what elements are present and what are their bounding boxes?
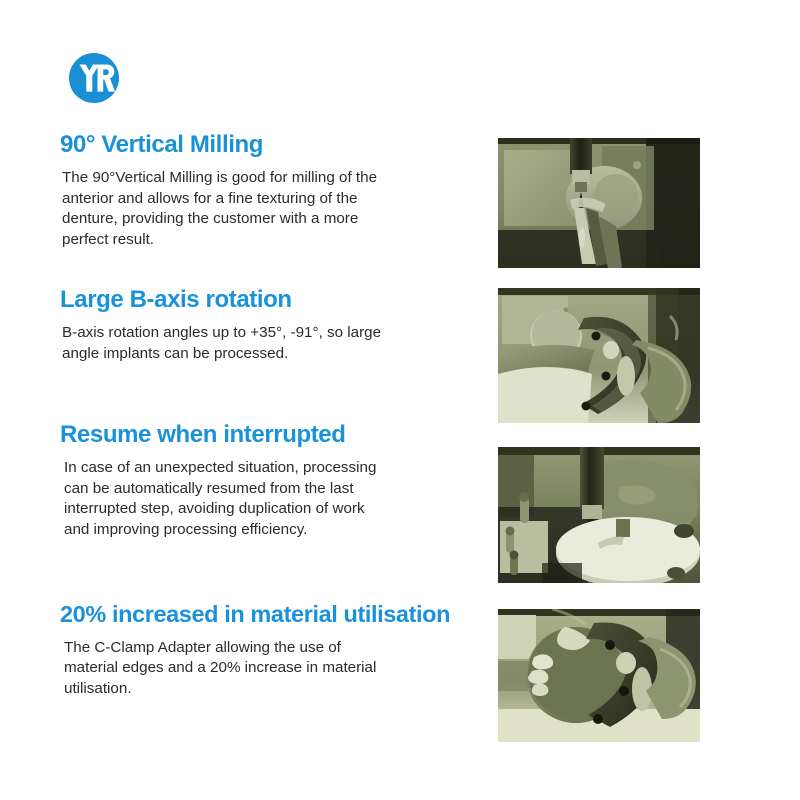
b-axis-rotation-photo [498, 288, 700, 423]
c-clamp-adapter-illustration [498, 609, 700, 742]
brand-logo [66, 52, 122, 104]
yr-circle-logo [66, 52, 122, 104]
resume-interrupted-illustration [498, 447, 700, 583]
feature-block-material-utilisation: 20% increased in material utilisation Th… [60, 602, 485, 699]
feature-title: Resume when interrupted [60, 422, 485, 448]
resume-interrupted-photo [498, 447, 700, 583]
feature-description: B-axis rotation angles up to +35°, -91°,… [60, 323, 392, 364]
feature-description: The 90°Vertical Milling is good for mill… [60, 168, 387, 250]
feature-block-vertical-milling: 90° Vertical Milling The 90°Vertical Mil… [60, 132, 485, 250]
vertical-milling-illustration [498, 138, 700, 268]
feature-title: 20% increased in material utilisation [60, 602, 485, 628]
vertical-milling-photo [498, 138, 700, 268]
feature-title: 90° Vertical Milling [60, 132, 485, 158]
feature-title: Large B-axis rotation [60, 287, 485, 313]
feature-sheet-page: 90° Vertical Milling The 90°Vertical Mil… [0, 0, 800, 800]
feature-description: The C-Clamp Adapter allowing the use of … [60, 638, 384, 700]
b-axis-rotation-illustration [498, 288, 700, 423]
feature-block-resume-interrupted: Resume when interrupted In case of an un… [60, 422, 485, 540]
feature-block-b-axis-rotation: Large B-axis rotation B-axis rotation an… [60, 287, 485, 364]
c-clamp-adapter-photo [498, 609, 700, 742]
feature-description: In case of an unexpected situation, proc… [60, 458, 389, 540]
